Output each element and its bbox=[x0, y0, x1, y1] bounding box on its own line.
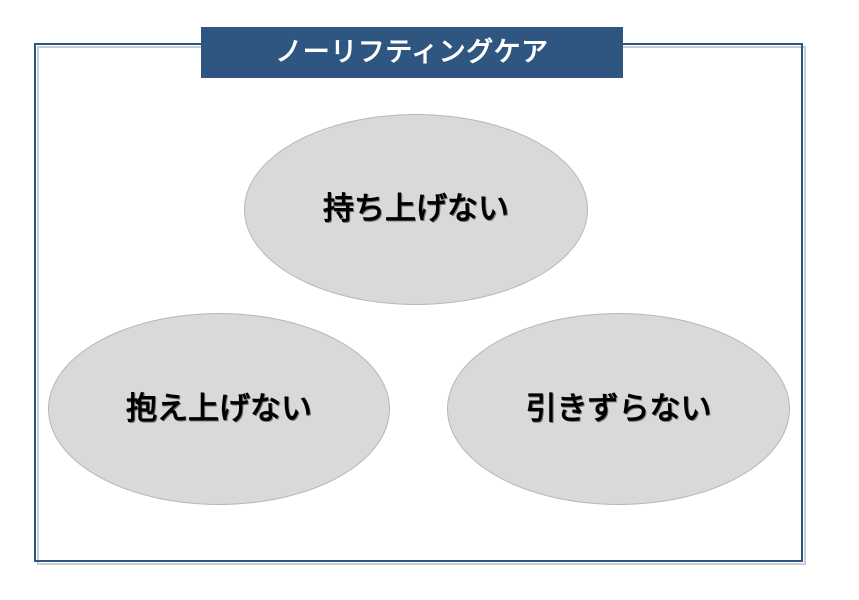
ellipse-no-lifting[interactable]: 持ち上げない bbox=[244, 114, 588, 305]
slide-canvas: ノーリフティングケア 持ち上げない 抱え上げない 引きずらない bbox=[0, 0, 859, 600]
ellipse-no-carrying-up-label: 抱え上げない bbox=[126, 394, 312, 425]
title-banner-label: ノーリフティングケア bbox=[275, 39, 548, 66]
ellipse-no-dragging[interactable]: 引きずらない bbox=[447, 313, 790, 505]
ellipse-no-carrying-up[interactable]: 抱え上げない bbox=[48, 313, 390, 505]
title-banner: ノーリフティングケア bbox=[201, 27, 623, 78]
ellipse-no-lifting-label: 持ち上げない bbox=[323, 194, 509, 225]
ellipse-no-dragging-label: 引きずらない bbox=[526, 394, 712, 425]
